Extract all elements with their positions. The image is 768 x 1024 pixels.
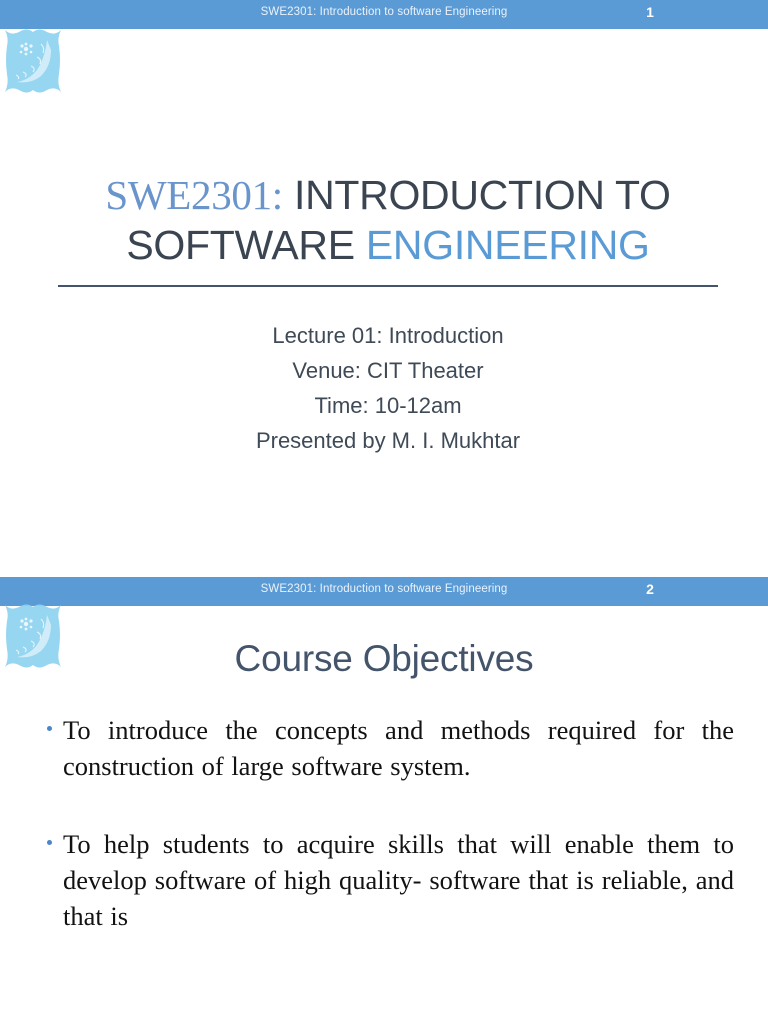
bullet-text: To introduce the concepts and methods re…: [63, 712, 734, 784]
title-accent-text: ENGINEERING: [366, 222, 650, 268]
list-item: To introduce the concepts and methods re…: [44, 712, 734, 784]
slide-2-heading: Course Objectives: [0, 638, 768, 680]
list-item: To help students to acquire skills that …: [44, 826, 734, 934]
subtitle-line: Time: 10-12am: [58, 388, 718, 423]
slide-2-page-number: 2: [628, 581, 672, 597]
slide-2-bullet-list: To introduce the concepts and methods re…: [44, 712, 734, 934]
slide-1-subtitle: Lecture 01: Introduction Venue: CIT Thea…: [58, 318, 718, 458]
bullet-dot-icon: [47, 726, 52, 731]
slide-1-page-number: 1: [628, 4, 672, 20]
bullet-text: To help students to acquire skills that …: [63, 826, 734, 934]
subtitle-line: Venue: CIT Theater: [58, 353, 718, 388]
slide-1-title: SWE2301: INTRODUCTION TO SOFTWARE ENGINE…: [58, 170, 718, 270]
bullet-dot-icon: [47, 840, 52, 845]
slide-1: SWE2301: Introduction to software Engine…: [0, 0, 768, 577]
title-divider: [58, 285, 718, 287]
subtitle-line: Lecture 01: Introduction: [58, 318, 718, 353]
slide-2: SWE2301: Introduction to software Engine…: [0, 577, 768, 1024]
university-crest-icon: [1, 24, 65, 96]
subtitle-line: Presented by M. I. Mukhtar: [58, 423, 718, 458]
title-course-code: SWE2301:: [105, 172, 283, 218]
